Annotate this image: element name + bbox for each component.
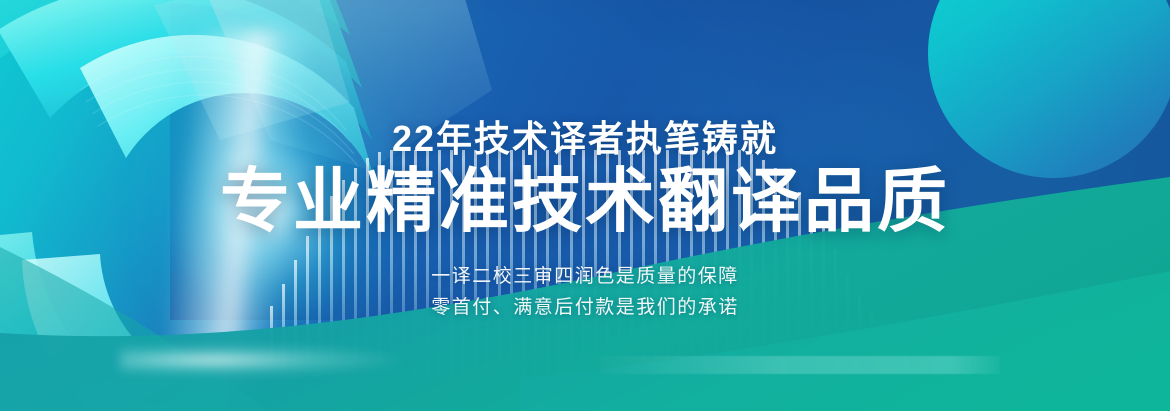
light-band-decoration [600,356,1000,374]
banner-tagline-line-2: 零首付、满意后付款是我们的承诺 [0,293,1170,324]
banner-tagline-line-1: 一译二校三审四润色是质量的保障 [0,262,1170,293]
banner-eyebrow: 22年技术译者执笔铸就 [0,110,1170,162]
promo-banner: 22年技术译者执笔铸就 专业精准技术翻译品质 一译二校三审四润色是质量的保障 零… [0,0,1170,411]
banner-headline: 专业精准技术翻译品质 [0,166,1170,236]
floor-glow-decoration [120,340,540,380]
banner-tagline: 一译二校三审四润色是质量的保障 零首付、满意后付款是我们的承诺 [0,262,1170,324]
